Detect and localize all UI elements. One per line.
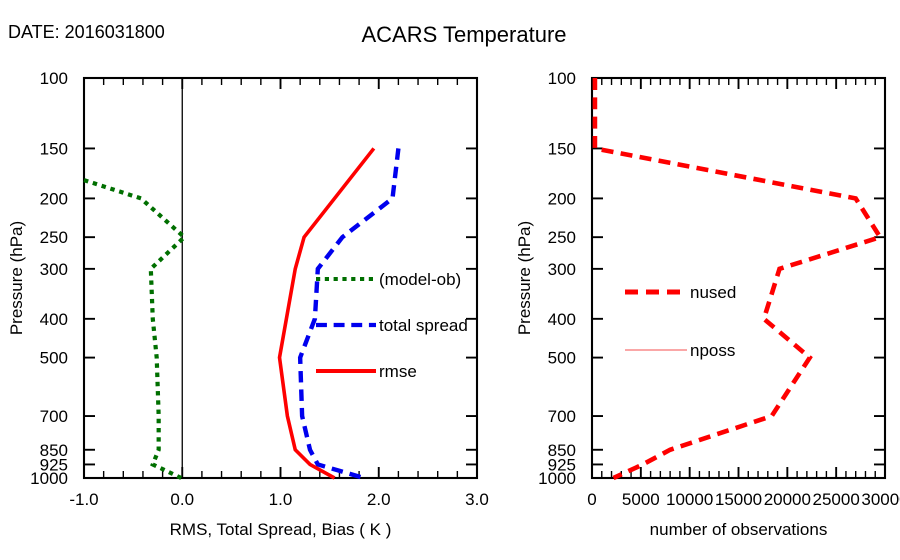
plot-canvas: DATE: 2016031800 ACARS Temperature -1.00… <box>0 0 900 560</box>
x-axis-title: number of observations <box>650 520 828 539</box>
x-axis-title: RMS, Total Spread, Bias ( K ) <box>170 520 392 539</box>
y-axis-title: Pressure (hPa) <box>7 221 26 335</box>
y-axis-title: Pressure (hPa) <box>515 221 534 335</box>
y-tick-label: 500 <box>40 349 68 368</box>
y-tick-label: 300 <box>548 260 576 279</box>
y-tick-label: 200 <box>548 189 576 208</box>
legend-item-total-spread: total spread <box>316 316 468 335</box>
date-label: DATE: 2016031800 <box>8 22 165 42</box>
series-rmse <box>280 148 374 478</box>
legend-item--model-ob-: (model-ob) <box>316 270 461 289</box>
y-tick-label: 400 <box>548 310 576 329</box>
x-tick-label: 25000 <box>813 490 860 509</box>
x-tick-label: 0.0 <box>170 490 194 509</box>
x-tick-label: 2.0 <box>367 490 391 509</box>
y-tick-label: 700 <box>548 407 576 426</box>
y-tick-label: 1000 <box>30 469 68 488</box>
series-nused <box>595 78 880 478</box>
y-tick-label: 400 <box>40 310 68 329</box>
y-tick-label: 150 <box>40 139 68 158</box>
y-tick-label: 200 <box>40 189 68 208</box>
x-tick-label: 10000 <box>666 490 713 509</box>
left-panel: -1.00.01.02.03.0100150200250300400500700… <box>7 69 489 539</box>
figure-title: ACARS Temperature <box>361 22 566 47</box>
y-tick-label: 100 <box>548 69 576 88</box>
legend-item-rmse: rmse <box>316 362 417 381</box>
y-tick-label: 700 <box>40 407 68 426</box>
x-tick-label: 0 <box>587 490 596 509</box>
x-tick-label: -1.0 <box>69 490 98 509</box>
x-tick-label: 30000 <box>861 490 900 509</box>
legend-label: nused <box>690 283 736 302</box>
x-tick-label: 20000 <box>764 490 811 509</box>
y-tick-label: 250 <box>40 228 68 247</box>
series--model-ob- <box>84 180 184 478</box>
legend-label: nposs <box>690 341 735 360</box>
y-tick-label: 100 <box>40 69 68 88</box>
legend-label: total spread <box>379 316 468 335</box>
legend-label: rmse <box>379 362 417 381</box>
plot-frame <box>592 78 885 478</box>
y-tick-label: 1000 <box>538 469 576 488</box>
series-total-spread <box>300 148 398 478</box>
x-tick-label: 3.0 <box>465 490 489 509</box>
x-tick-label: 1.0 <box>269 490 293 509</box>
y-tick-label: 150 <box>548 139 576 158</box>
legend-item-nused: nused <box>625 283 736 302</box>
x-tick-label: 15000 <box>715 490 762 509</box>
y-tick-label: 250 <box>548 228 576 247</box>
acars-temperature-figure: DATE: 2016031800 ACARS Temperature -1.00… <box>0 0 900 560</box>
y-tick-label: 300 <box>40 260 68 279</box>
y-tick-label: 500 <box>548 349 576 368</box>
right-panel: 0500010000150002000025000300001001502002… <box>515 69 900 539</box>
x-tick-label: 5000 <box>622 490 660 509</box>
legend-item-nposs: nposs <box>625 341 735 360</box>
legend-label: (model-ob) <box>379 270 461 289</box>
